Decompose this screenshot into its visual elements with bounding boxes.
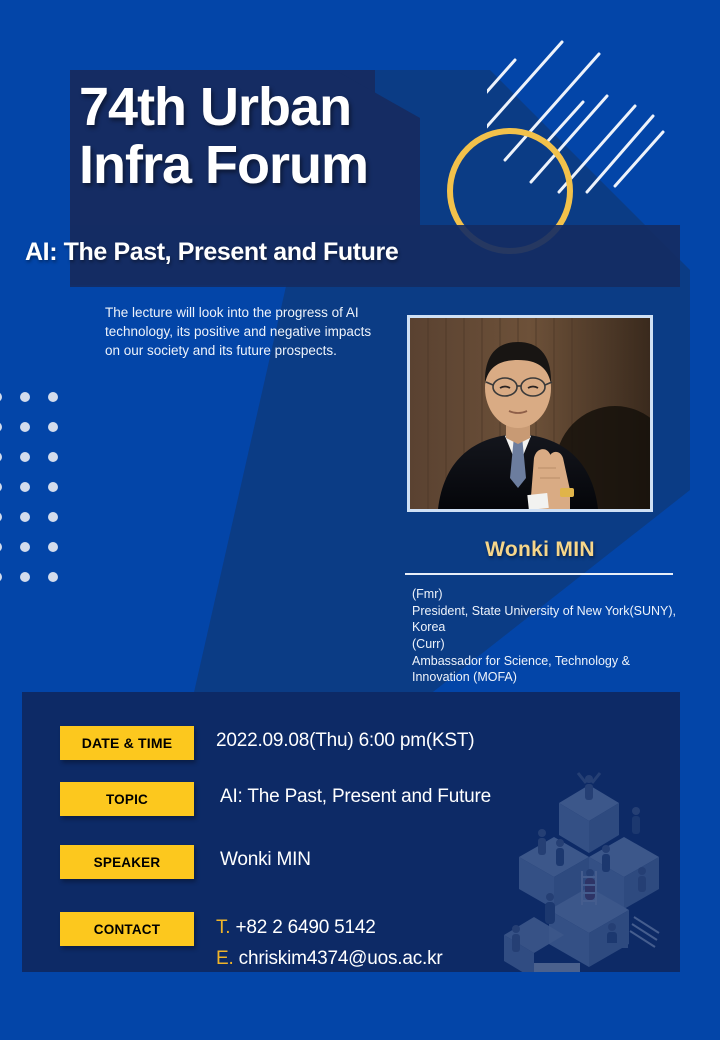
info-row: DATE & TIME 2022.09.08(Thu) 6:00 pm(KST) (60, 726, 660, 760)
dot (20, 392, 30, 402)
dot (0, 542, 2, 552)
dot (48, 542, 58, 552)
forum-poster: 74th Urban Infra Forum AI: The Past, Pre… (0, 0, 720, 1040)
dot (20, 512, 30, 522)
dot (0, 452, 2, 462)
contact-values: T. +82 2 6490 5142 E. chriskim4374@uos.a… (216, 912, 443, 972)
dot (48, 512, 58, 522)
info-panel: DATE & TIME 2022.09.08(Thu) 6:00 pm(KST)… (22, 692, 680, 972)
poster-subtitle: AI: The Past, Present and Future (25, 238, 398, 267)
email-address[interactable]: chriskim4374@uos.ac.kr (239, 948, 443, 969)
info-row: TOPIC AI: The Past, Present and Future (60, 782, 660, 816)
dot (0, 572, 2, 582)
dot (20, 452, 30, 462)
dot (20, 542, 30, 552)
dot (48, 452, 58, 462)
poster-title: 74th Urban Infra Forum (79, 78, 499, 195)
badge-topic: TOPIC (60, 782, 194, 816)
lecture-description: The lecture will look into the progress … (105, 303, 380, 360)
badge-speaker: SPEAKER (60, 845, 194, 879)
dot (0, 482, 2, 492)
value-topic: AI: The Past, Present and Future (220, 782, 491, 808)
contact-phone-line: T. +82 2 6490 5142 (216, 912, 443, 943)
info-row: SPEAKER Wonki MIN (60, 845, 660, 879)
dot-grid-decoration (0, 392, 76, 602)
speaker-bio: (Fmr) President, State University of New… (412, 586, 702, 686)
value-speaker: Wonki MIN (220, 845, 311, 871)
value-date-time: 2022.09.08(Thu) 6:00 pm(KST) (216, 726, 474, 752)
speaker-divider (405, 573, 673, 575)
dot (48, 572, 58, 582)
badge-contact: CONTACT (60, 912, 194, 946)
speaker-name: Wonki MIN (407, 538, 673, 562)
dot (20, 572, 30, 582)
dot (48, 392, 58, 402)
dot (20, 422, 30, 432)
dot (0, 422, 2, 432)
email-prefix-label: E. (216, 948, 234, 969)
phone-number: +82 2 6490 5142 (235, 917, 375, 938)
info-row: CONTACT T. +82 2 6490 5142 E. chriskim43… (60, 912, 660, 972)
phone-prefix-label: T. (216, 917, 230, 938)
dot (0, 512, 2, 522)
dot (20, 482, 30, 492)
dot (48, 482, 58, 492)
badge-date-time: DATE & TIME (60, 726, 194, 760)
speaker-photo (407, 315, 653, 512)
contact-email-line: E. chriskim4374@uos.ac.kr (216, 943, 443, 972)
dot (0, 392, 2, 402)
dot (48, 422, 58, 432)
